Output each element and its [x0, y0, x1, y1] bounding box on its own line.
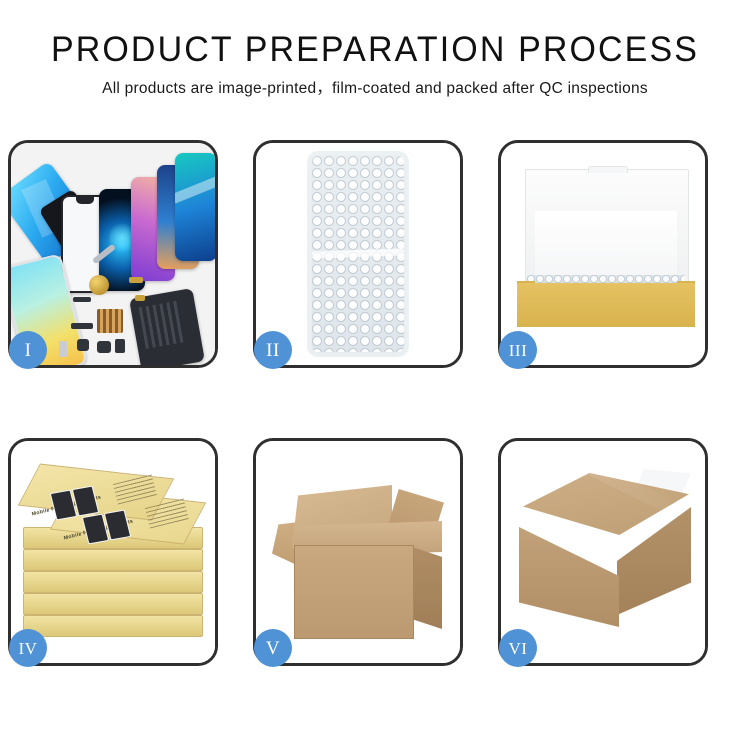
gold-contact-icon	[129, 277, 143, 283]
camera-module-icon	[77, 339, 89, 351]
step-panel-2[interactable]: II	[253, 140, 463, 368]
sim-tray-icon	[59, 341, 67, 357]
open-carton-icon	[276, 467, 446, 643]
box-front-wall-icon	[517, 283, 695, 327]
step-badge-5: V	[254, 629, 292, 667]
speaker-module-icon	[89, 275, 109, 295]
stack-slab-2	[23, 549, 203, 571]
stacked-spare-parts-boxes-icon: Mobile Phone Spare Parts Mobile Phone Sp…	[11, 441, 215, 663]
stack-slab-3	[23, 571, 203, 593]
step-badge-3: III	[499, 331, 537, 369]
flex-cable-icon	[73, 297, 91, 302]
teal-gradient-phone-icon	[175, 153, 215, 261]
poster-header: PRODUCT PREPARATION PROCESS All products…	[0, 0, 750, 99]
phone-screens-and-spare-parts-icon	[11, 143, 215, 365]
box-interior-icon	[535, 211, 677, 285]
battery-connector-icon	[97, 341, 111, 353]
page-subtitle: All products are image-printed，film-coat…	[0, 79, 750, 99]
page-title: PRODUCT PREPARATION PROCESS	[11, 30, 739, 70]
step-panel-5[interactable]: V	[253, 438, 463, 666]
step-panel-6[interactable]: VI	[498, 438, 708, 666]
carton-side-panel-icon	[412, 547, 442, 629]
step-panel-3[interactable]: III	[498, 140, 708, 368]
sealed-carton-icon	[519, 473, 695, 633]
carton-front-panel-icon	[294, 545, 414, 639]
step-badge-2: II	[254, 331, 292, 369]
bubble-wrap-sleeve-icon	[312, 156, 404, 352]
ribbon-cable-icon	[71, 323, 93, 329]
flat-kraft-box-icon	[517, 169, 695, 337]
stack-slab-5	[23, 615, 203, 637]
step-badge-6: VI	[499, 629, 537, 667]
step-panel-4[interactable]: Mobile Phone Spare Parts Mobile Phone Sp…	[8, 438, 218, 666]
carton-left-panel-icon	[519, 525, 619, 627]
box-stack-icon: Mobile Phone Spare Parts Mobile Phone Sp…	[19, 465, 213, 647]
product-preparation-poster: PRODUCT PREPARATION PROCESS All products…	[0, 0, 750, 750]
connector-chip-icon	[97, 309, 123, 333]
bubble-wrapped-screen-icon	[256, 143, 460, 365]
process-steps-grid: I II III	[8, 140, 742, 666]
sealed-cardboard-carton-icon	[501, 441, 705, 663]
open-kraft-box-with-bubble-wrap-icon	[501, 143, 705, 365]
vibrator-icon	[115, 339, 125, 353]
step-panel-1[interactable]: I	[8, 140, 218, 368]
open-carton-with-boxes-icon	[256, 441, 460, 663]
step-badge-1: I	[9, 331, 47, 369]
gold-contact-2-icon	[135, 295, 145, 301]
stack-slab-4	[23, 593, 203, 615]
step-badge-4: IV	[9, 629, 47, 667]
